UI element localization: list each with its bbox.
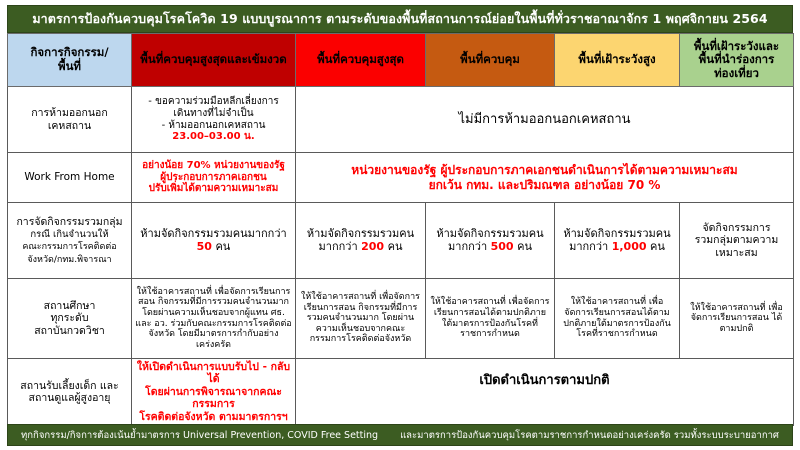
wfh-merged-line2: ยกเว้น กทม. และปริมณฑล อย่างน้อย 70 % [429, 178, 661, 192]
header-activity-area: กิจการกิจกรรม/ พื้นที่ [8, 34, 132, 87]
wfh-strict-line2: ผู้ประกอบการภาคเอกชน [160, 172, 266, 183]
cell-curfew-no-restriction: ไม่มีการห้ามออกนอกเคหสถาน [296, 87, 794, 153]
cell-gatherings-control: ห้ามจัดกิจกรรมรวมคน มากกว่า 500 คน [426, 203, 555, 279]
table-row-work-from-home: Work From Home อย่างน้อย 70% หน่วยงานของ… [8, 153, 794, 203]
gatherings-maximum-pre2: มากกว่า [319, 240, 358, 253]
table-header-row: กิจการกิจกรรม/ พื้นที่ พื้นที่ควบคุมสูงส… [8, 34, 794, 87]
gatherings-high-surv-post: คน [650, 240, 665, 253]
gatherings-maximum-limit: 200 [361, 240, 384, 253]
childcare-merged-text: เปิดดำเนินการตามปกติ [299, 361, 790, 388]
measures-table: กิจการกิจกรรม/ พื้นที่ พื้นที่ควบคุมสูงส… [7, 33, 794, 426]
cell-wfh-merged: หน่วยงานของรัฐ ผู้ประกอบการภาคเอกชนดำเนิ… [296, 153, 794, 203]
row-label-work-from-home: Work From Home [8, 153, 132, 203]
gatherings-maximum-pre: ห้ามจัดกิจกรรมรวมคน [307, 227, 414, 240]
childcare-strict-line1: ให้เปิดดำเนินการแบบรับไป - กลับได้ [137, 361, 290, 385]
gatherings-control-post: คน [517, 240, 532, 253]
header-green-line1: พื้นที่เฝ้าระวังและ [694, 39, 779, 53]
row-label-education-line2: ทุกระดับ [50, 312, 88, 324]
row-label-childcare-line1: สถานรับเลี้ยงเด็ก และ [20, 380, 118, 392]
row-label-gatherings-line3: คณะกรรมการโรคติดต่อ [22, 242, 116, 252]
row-label-childcare-elderly: สถานรับเลี้ยงเด็ก และ สถานดูแลผู้สูงอายุ [8, 359, 132, 426]
gatherings-strictest-pre: ห้ามจัดกิจกรรมรวมคนมากกว่า [140, 227, 286, 240]
gatherings-control-limit: 500 [491, 240, 514, 253]
row-label-curfew-line2: เคหสถาน [48, 120, 91, 132]
cell-education-surveillance: ให้ใช้อาคารสถานที่ เพื่อจัดการเรียนการสอ… [680, 279, 794, 359]
curfew-strict-time: 23.00–03.00 น. [172, 131, 254, 142]
bottom-banner-right-text: และมาตรการป้องกันควบคุมโรคตามราชการกำหนด… [400, 428, 779, 443]
header-control-area: พื้นที่ควบคุม [426, 34, 555, 87]
cell-gatherings-maximum: ห้ามจัดกิจกรรมรวมคน มากกว่า 200 คน [296, 203, 426, 279]
gatherings-strictest-post: คน [215, 240, 230, 253]
cell-education-control: ให้ใช้อาคารสถานที่ เพื่อจัดการเรียนการสอ… [426, 279, 555, 359]
header-green-line3: ท่องเที่ยว [714, 66, 759, 80]
header-activity-line2: พื้นที่ [58, 59, 81, 73]
cell-childcare-merged: เปิดดำเนินการตามปกติ ประชุมศบค. 29 ต.ค. … [296, 359, 794, 426]
header-strictest-control-area: พื้นที่ควบคุมสูงสุดและเข้มงวด [132, 34, 296, 87]
table-row-curfew: การห้ามออกนอก เคหสถาน - ขอความร่วมมือหลี… [8, 87, 794, 153]
bottom-banner: ทุกกิจกรรม/กิจการต้องเน้นย้ำมาตรการ Univ… [7, 424, 793, 446]
header-surveillance-and-tourism-pilot-area: พื้นที่เฝ้าระวังและ พื้นที่นำร่องการ ท่อ… [680, 34, 794, 87]
gatherings-high-surv-pre2: มากกว่า [569, 240, 608, 253]
cell-childcare-strictest: ให้เปิดดำเนินการแบบรับไป - กลับได้ โดยผ่… [132, 359, 296, 426]
gatherings-high-surv-limit: 1,000 [612, 240, 647, 253]
row-label-gatherings-line1: การจัดกิจกรรมรวมกลุ่ม [16, 216, 122, 228]
row-label-childcare-line2: สถานดูแลผู้สูงอายุ [29, 392, 111, 404]
wfh-strict-line3: ปรับเพิ่มได้ตามความเหมาะสม [149, 183, 279, 194]
childcare-merged-wrap: เปิดดำเนินการตามปกติ ประชุมศบค. 29 ต.ค. … [299, 361, 790, 423]
cell-gatherings-surveillance: จัดกิจกรรมการ รวมกลุ่มตามความ เหมาะสม [680, 203, 794, 279]
row-label-education-line3: สถาบันกวดวิชา [34, 325, 105, 337]
gatherings-control-pre: ห้ามจัดกิจกรรมรวมคน [436, 227, 543, 240]
row-label-curfew-line1: การห้ามออกนอก [31, 107, 107, 119]
gatherings-surv-line1: จัดกิจกรรมการ [703, 222, 771, 234]
gatherings-surv-line3: เหมาะสม [715, 247, 757, 259]
header-activity-line1: กิจการกิจกรรม/ [30, 45, 108, 59]
gatherings-strictest-limit: 50 [197, 240, 212, 253]
row-label-education-line1: สถานศึกษา [44, 300, 96, 312]
curfew-strict-line3: - ห้ามออกนอกเคหสถาน [162, 120, 266, 131]
header-high-surveillance-area: พื้นที่เฝ้าระวังสูง [555, 34, 680, 87]
wfh-strict-line1: อย่างน้อย 70% หน่วยงานของรัฐ [142, 160, 285, 171]
cell-gatherings-high-surveillance: ห้ามจัดกิจกรรมรวมคน มากกว่า 1,000 คน [555, 203, 680, 279]
covid-measures-infographic: มาตรการป้องกันควบคุมโรคโควิด 19 แบบบูรณา… [0, 0, 800, 450]
wfh-merged-line1: หน่วยงานของรัฐ ผู้ประกอบการภาคเอกชนดำเนิ… [351, 163, 737, 177]
table-row-gatherings: การจัดกิจกรรมรวมกลุ่ม กรณี เกินจำนวนให้ … [8, 203, 794, 279]
table-row-education: สถานศึกษา ทุกระดับ สถาบันกวดวิชา ให้ใช้อ… [8, 279, 794, 359]
gatherings-surv-line2: รวมกลุ่มตามความ [695, 234, 779, 246]
header-maximum-control-area: พื้นที่ควบคุมสูงสุด [296, 34, 426, 87]
table-row-childcare-elderly: สถานรับเลี้ยงเด็ก และ สถานดูแลผู้สูงอายุ… [8, 359, 794, 426]
bottom-banner-left-text: ทุกกิจกรรม/กิจการต้องเน้นย้ำมาตรการ Univ… [21, 428, 378, 443]
cell-education-high-surveillance: ให้ใช้อาคารสถานที่ เพื่อจัดการเรียนการสอ… [555, 279, 680, 359]
curfew-strict-line1: - ขอความร่วมมือหลีกเลี่ยงการ [148, 96, 278, 107]
cell-education-maximum: ให้ใช้อาคารสถานที่ เพื่อจัดการเรียนการสอ… [296, 279, 426, 359]
row-label-education: สถานศึกษา ทุกระดับ สถาบันกวดวิชา [8, 279, 132, 359]
header-green-line2: พื้นที่นำร่องการ [699, 52, 775, 66]
cell-gatherings-strictest: ห้ามจัดกิจกรรมรวมคนมากกว่า 50 คน [132, 203, 296, 279]
row-label-gatherings: การจัดกิจกรรมรวมกลุ่ม กรณี เกินจำนวนให้ … [8, 203, 132, 279]
row-label-gatherings-line4: จังหวัด/กทม.พิจารณา [27, 255, 111, 265]
curfew-strict-line2: เดินทางที่ไม่จำเป็น [173, 108, 253, 119]
cell-education-strictest: ให้ใช้อาคารสถานที่ เพื่อจัดการเรียนการสอ… [132, 279, 296, 359]
gatherings-control-pre2: มากกว่า [448, 240, 487, 253]
row-label-curfew: การห้ามออกนอก เคหสถาน [8, 87, 132, 153]
row-label-gatherings-line2: กรณี เกินจำนวนให้ [30, 229, 108, 240]
cell-wfh-strictest: อย่างน้อย 70% หน่วยงานของรัฐ ผู้ประกอบกา… [132, 153, 296, 203]
gatherings-maximum-post: คน [388, 240, 403, 253]
cell-curfew-strictest: - ขอความร่วมมือหลีกเลี่ยงการ เดินทางที่ไ… [132, 87, 296, 153]
childcare-strict-line3: โรคติดต่อจังหวัด ตามมาตรการฯ [139, 411, 287, 423]
page-title: มาตรการป้องกันควบคุมโรคโควิด 19 แบบบูรณา… [28, 12, 771, 26]
gatherings-high-surv-pre: ห้ามจัดกิจกรรมรวมคน [563, 227, 670, 240]
childcare-strict-line2: โดยผ่านการพิจารณาจากคณะกรรมการ [145, 386, 282, 410]
title-banner: มาตรการป้องกันควบคุมโรคโควิด 19 แบบบูรณา… [7, 5, 793, 33]
